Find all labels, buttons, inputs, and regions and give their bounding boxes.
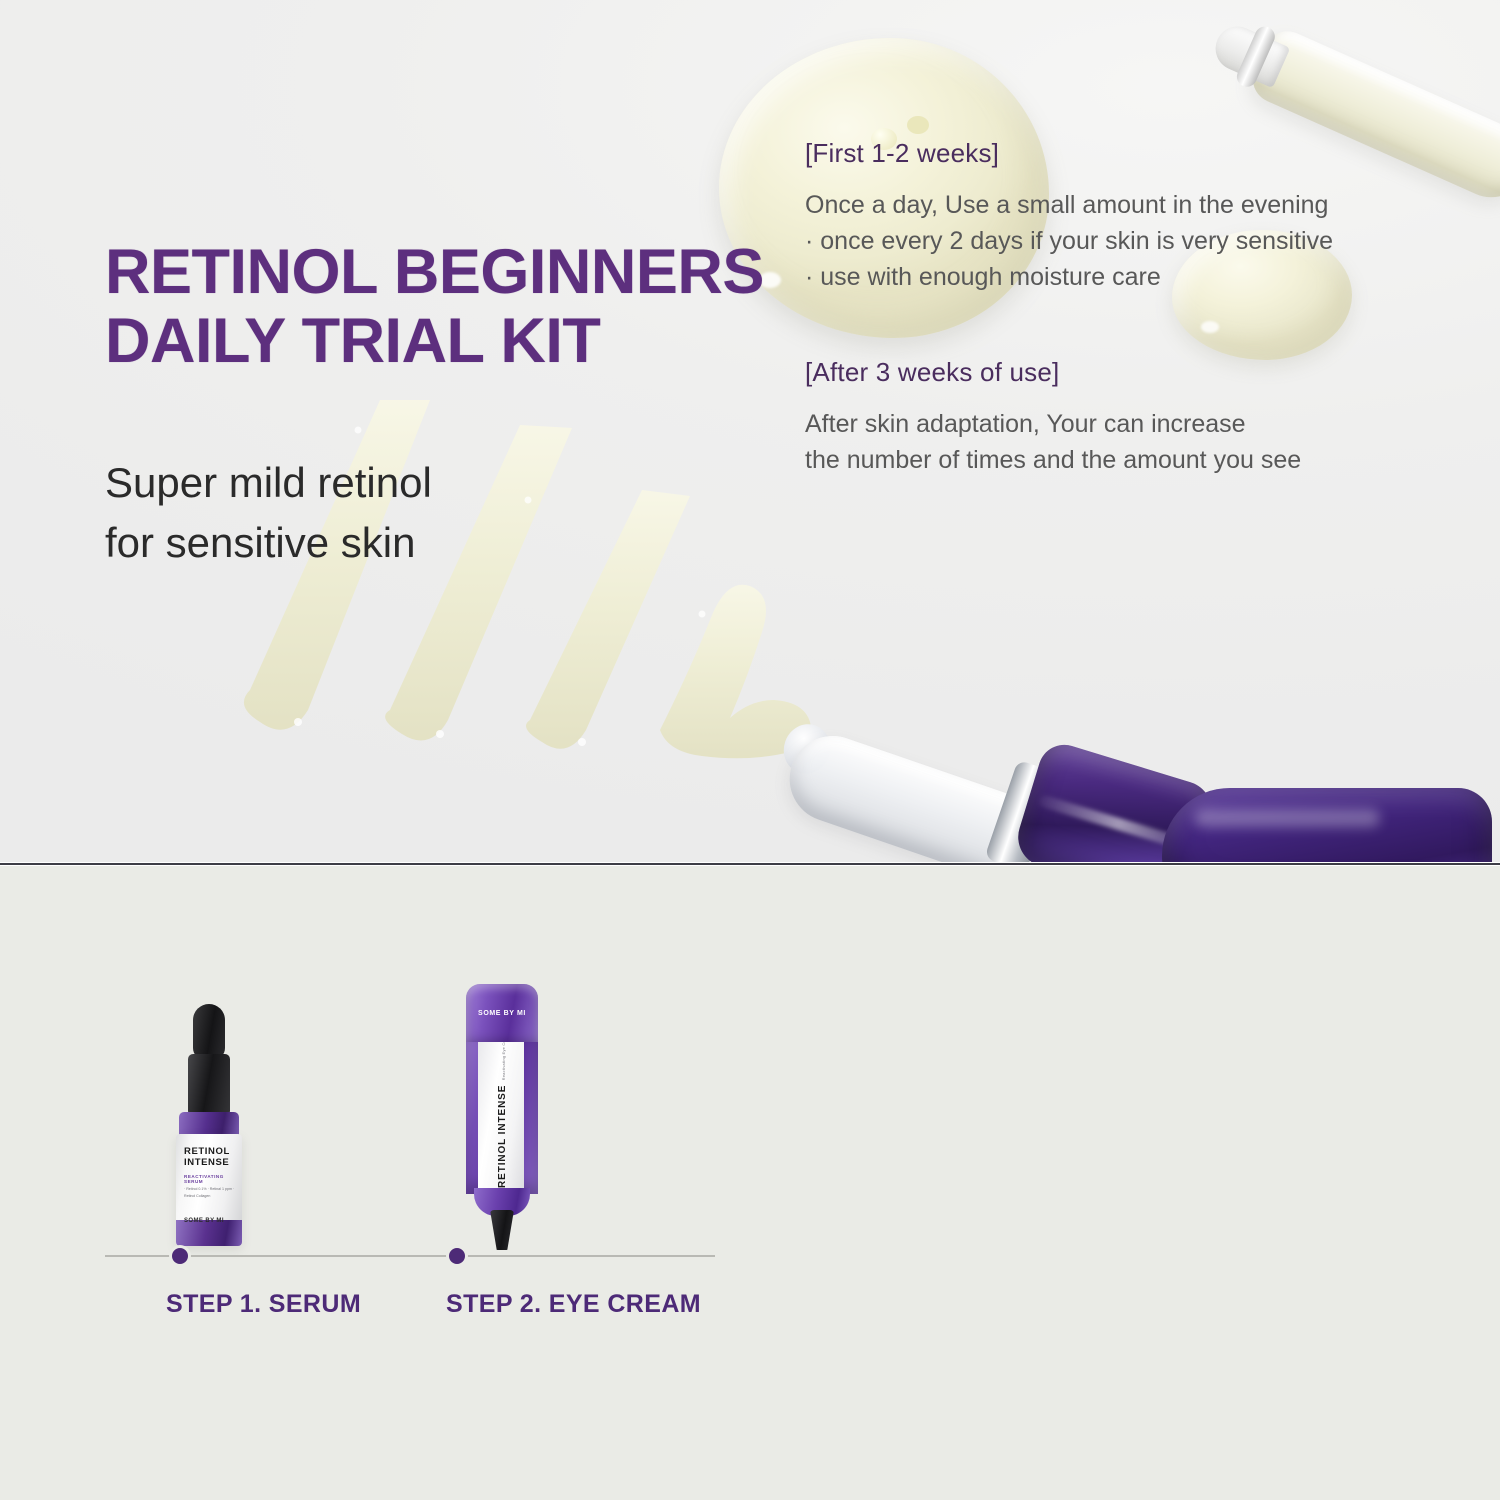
steps-timeline [105, 1255, 715, 1257]
product-detail-page: RETINOL BEGINNERS DAILY TRIAL KIT Super … [0, 0, 1500, 1500]
subtitle-line-2: for sensitive skin [105, 513, 825, 574]
hero-subtitle: Super mild retinol for sensitive skin [105, 453, 825, 575]
instruction-1-line-3: · use with enough moisture care [805, 259, 1445, 295]
product-lineup: RETINOL INTENSE REACTIVATING SERUM · Ret… [0, 866, 760, 1500]
step-label-1: STEP 1. SERUM [166, 1290, 361, 1319]
page-title: RETINOL BEGINNERS DAILY TRIAL KIT [105, 238, 825, 377]
instruction-body-1: Once a day, Use a small amount in the ev… [805, 187, 1445, 295]
timeline-dot-step-1 [172, 1248, 188, 1264]
serum-brand-name: SOME BY MI [184, 1218, 236, 1224]
tube-nozzle-tip [490, 1210, 514, 1250]
instruction-block-2: [After 3 weeks of use] After skin adapta… [805, 357, 1445, 478]
instruction-block-1: [First 1-2 weeks] Once a day, Use a smal… [805, 138, 1445, 295]
instruction-2-line-2: the number of times and the amount you s… [805, 442, 1445, 478]
serum-label-bullets: · Retinol 0.1% · Retinal 1 ppm · Retinol… [184, 1186, 236, 1200]
instruction-1-line-1: Once a day, Use a small amount in the ev… [805, 187, 1445, 223]
usage-guide-section: RETINOL INTENSE REACTIVATING SERUM · Ret… [0, 866, 1500, 1500]
dropper-neck [188, 1054, 230, 1116]
tube-label-panel: RETINOL INTENSE Reactivating Eye Cream f… [478, 1042, 524, 1194]
usage-instructions: [First 1-2 weeks] Once a day, Use a smal… [805, 138, 1445, 478]
tube-barrel: RETINOL INTENSE Reactivating Eye Cream f… [466, 1042, 538, 1194]
instruction-heading-1: [First 1-2 weeks] [805, 138, 1445, 169]
serum-name-line-1: RETINOL [184, 1146, 230, 1157]
instruction-heading-2: [After 3 weeks of use] [805, 357, 1445, 388]
instruction-2-line-1: After skin adaptation, Your can increase [805, 406, 1445, 442]
hero-copy: RETINOL BEGINNERS DAILY TRIAL KIT Super … [105, 238, 825, 574]
product-serum-bottle: RETINOL INTENSE REACTIVATING SERUM · Ret… [166, 1004, 252, 1254]
tube-label-text: RETINOL INTENSE Reactivating Eye Cream f… [492, 1048, 510, 1188]
bottle-highlight [1195, 809, 1380, 827]
instruction-body-2: After skin adaptation, Your can increase… [805, 406, 1445, 478]
tube-top-seal: SOME BY MI [466, 984, 538, 1046]
bottle-glass-body: RETINOL INTENSE REACTIVATING SERUM · Ret… [176, 1134, 242, 1246]
step-label-2: STEP 2. EYE CREAM [446, 1290, 701, 1319]
headline-line-2: DAILY TRIAL KIT [105, 307, 825, 376]
retinol-serum-bottle-hero [770, 676, 1500, 862]
tube-brand-name: SOME BY MI [466, 1010, 538, 1017]
timeline-dot-step-2 [449, 1248, 465, 1264]
eye-cream-name: RETINOL INTENSE [497, 1085, 508, 1188]
serum-label-subtitle: REACTIVATING SERUM [184, 1174, 236, 1184]
bottle-body [1162, 788, 1492, 862]
instruction-1-line-2: · once every 2 days if your skin is very… [805, 223, 1445, 259]
product-eye-cream-tube: SOME BY MI RETINOL INTENSE Reactivating … [460, 984, 544, 1252]
subtitle-line-1: Super mild retinol [105, 459, 432, 506]
headline-line-1: RETINOL BEGINNERS [105, 237, 764, 307]
serum-label-name: RETINOL INTENSE [184, 1146, 236, 1168]
eye-cream-subtitle: Reactivating Eye Cream for Wrinkle and D… [502, 1042, 506, 1080]
serum-name-line-2: INTENSE [184, 1157, 229, 1168]
dropper-bulb [193, 1004, 225, 1060]
